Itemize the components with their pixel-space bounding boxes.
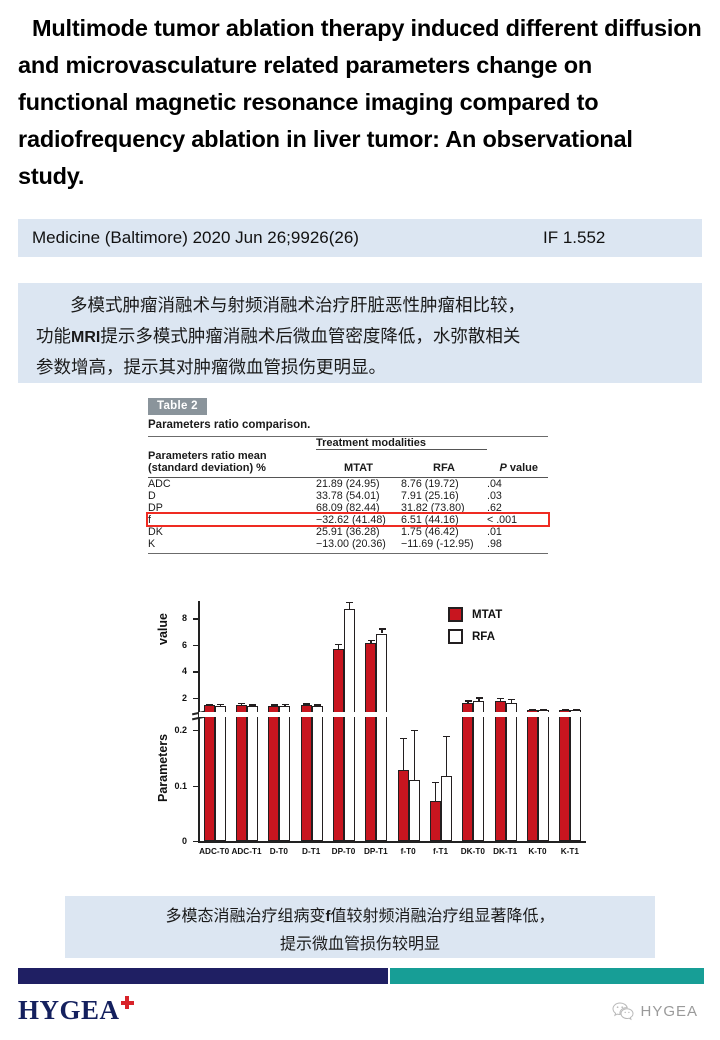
journal-bar: Medicine (Baltimore) 2020 Jun 26;9926(26…	[18, 219, 702, 257]
y-axis-tick: 0	[193, 841, 198, 842]
chart-bar	[279, 706, 290, 841]
table-cell-rfa: −11.69 (-12.95)	[401, 538, 487, 550]
error-bar-cap	[497, 698, 504, 699]
x-axis-tick-label: f-T0	[401, 847, 416, 856]
summary-line-3: 参数增高，提示其对肿瘤微血管损伤更明显。	[36, 353, 680, 384]
col-header-mtat: MTAT	[316, 450, 401, 474]
chart-bar	[462, 703, 473, 841]
table-row: K−13.00 (20.36)−11.69 (-12.95).98	[148, 538, 548, 550]
error-bar-cap	[400, 738, 407, 739]
table-row: ADC21.89 (24.95)8.76 (19.72).04	[148, 477, 548, 490]
legend-item-mtat: MTAT	[448, 607, 502, 622]
y-axis-title-value: value	[156, 613, 170, 645]
legend-label-mtat: MTAT	[472, 609, 502, 621]
page-title: Multimode tumor ablation therapy induced…	[18, 10, 704, 195]
table-cell-mtat: 25.91 (36.28)	[316, 526, 401, 538]
x-axis-tick-label: K-T1	[561, 847, 579, 856]
figure-caption: 多模态消融治疗组病变f值较射频消融治疗组显著降低， 提示微血管损伤较明显	[65, 896, 655, 958]
table-cell-pvalue: .03	[487, 490, 548, 502]
caption-line-2: 提示微血管损伤较明显	[65, 930, 655, 957]
table-cell-mtat: −32.62 (41.48)	[316, 514, 401, 526]
y-axis-tick-label: 4	[182, 666, 187, 676]
error-bar-cap	[379, 628, 386, 629]
x-axis-tick-label: f-T1	[433, 847, 448, 856]
results-table: Table 2 Parameters ratio comparison. Tre…	[148, 396, 548, 554]
table-cell-rfa: 6.51 (44.16)	[401, 514, 487, 526]
table-cell-mtat: 33.78 (54.01)	[316, 490, 401, 502]
table-grid: Treatment modalities Parameters ratio me…	[148, 437, 548, 550]
error-bar-cap	[573, 709, 580, 710]
table-cell-rfa: 1.75 (46.42)	[401, 526, 487, 538]
error-bar-cap	[540, 709, 547, 710]
legend-label-rfa: RFA	[472, 631, 495, 643]
col-header-pvalue: P value	[487, 450, 548, 474]
error-bar	[446, 736, 447, 776]
plot-area: 00.10.22468ADC-T0ADC-T1D-T0D-T1DP-T0DP-T…	[198, 601, 586, 841]
error-bar	[403, 738, 404, 770]
chart-bar	[398, 770, 409, 841]
pvalue-italic-p: P	[499, 462, 506, 474]
y-axis-title-parameters: Parameters	[156, 734, 170, 802]
y-axis-tick-label: 0	[182, 836, 187, 846]
table-cell-pvalue: < .001	[487, 514, 548, 526]
pvalue-word: value	[507, 462, 538, 474]
summary-block: 多模式肿瘤消融术与射频消融术治疗肝脏恶性肿瘤相比较， 功能MRI提示多模式肿瘤消…	[18, 283, 702, 383]
table-cell-parameter: DK	[148, 526, 316, 538]
table-cell-parameter: DP	[148, 502, 316, 514]
error-bar-cap	[411, 730, 418, 731]
chart-bar	[495, 701, 506, 841]
col-header-parameters-l1: Parameters ratio mean	[148, 450, 316, 462]
x-axis-tick-label: DK-T0	[461, 847, 485, 856]
y-axis-tick: 6	[193, 645, 198, 646]
table-cell-parameter: ADC	[148, 477, 316, 490]
chart-bar	[301, 705, 312, 841]
axis-break-band-overlay	[199, 712, 586, 717]
error-bar-cap	[314, 704, 321, 705]
chart-bar	[268, 706, 279, 841]
chart-bar	[527, 710, 538, 841]
y-axis-tick: 2	[193, 698, 198, 699]
chart-bar	[236, 705, 247, 841]
chart-bar	[333, 649, 344, 841]
y-axis-tick: 0.1	[193, 786, 198, 787]
table-column-header-row: Parameters ratio mean (standard deviatio…	[148, 450, 548, 474]
chart-bar	[247, 706, 258, 841]
chart-bar	[376, 634, 387, 842]
chart-bar	[441, 776, 452, 841]
error-bar-cap	[271, 704, 278, 705]
chart-bar	[473, 701, 484, 841]
bar-chart: value Parameters 00.10.22468ADC-T0ADC-T1…	[160, 597, 590, 867]
chart-bar	[344, 609, 355, 841]
error-bar-cap	[249, 704, 256, 705]
error-bar-cap	[529, 709, 536, 710]
summary-line-2a: 功能	[36, 327, 71, 347]
error-bar-cap	[368, 640, 375, 641]
table-cell-mtat: 21.89 (24.95)	[316, 477, 401, 490]
y-axis-tick-label: 2	[182, 693, 187, 703]
footer-teal-bar	[390, 968, 704, 984]
figure-area: Table 2 Parameters ratio comparison. Tre…	[0, 392, 720, 882]
chart-bar	[430, 801, 441, 841]
summary-mri-term: MRI	[71, 329, 100, 346]
error-bar-cap	[303, 703, 310, 704]
legend-swatch-rfa-icon	[448, 629, 463, 644]
table-caption: Parameters ratio comparison.	[148, 419, 548, 431]
spacer-cell	[148, 437, 316, 450]
chart-bar	[506, 703, 517, 841]
table-group-header-row: Treatment modalities	[148, 437, 548, 450]
error-bar-cap	[206, 704, 213, 705]
wechat-label: HYGEA	[640, 1003, 698, 1020]
x-axis-tick-label: ADC-T1	[231, 847, 261, 856]
chart-bar	[538, 710, 549, 841]
y-axis-tick-label: 6	[182, 640, 187, 650]
table-cell-parameter: K	[148, 538, 316, 550]
table-cell-pvalue: .04	[487, 477, 548, 490]
y-axis-tick-label: 0.2	[174, 725, 187, 735]
hygea-logo-text: HYGEA	[18, 995, 120, 1025]
error-bar-cap	[443, 736, 450, 737]
impact-factor: IF 1.552	[543, 228, 605, 248]
treatment-modalities-header: Treatment modalities	[316, 437, 487, 450]
chart-bar	[365, 643, 376, 841]
chart-legend: MTAT RFA	[448, 607, 502, 651]
table-body: ADC21.89 (24.95)8.76 (19.72).04D33.78 (5…	[148, 477, 548, 550]
x-axis-tick-label: DK-T1	[493, 847, 517, 856]
caption-line-1: 多模态消融治疗组病变f值较射频消融治疗组显著降低，	[65, 902, 655, 930]
chart-bar	[215, 706, 226, 841]
legend-swatch-mtat-icon	[448, 607, 463, 622]
y-axis-tick: 0.2	[193, 730, 198, 731]
bars-container	[198, 601, 586, 841]
y-axis-tick-label: 0.1	[174, 781, 187, 791]
x-axis-tick-label: D-T0	[270, 847, 288, 856]
wechat-icon	[612, 1002, 634, 1021]
hygea-logo: HYGEA	[18, 995, 134, 1026]
x-axis-line	[198, 841, 586, 843]
table-cell-rfa: 31.82 (73.80)	[401, 502, 487, 514]
error-bar	[435, 782, 436, 801]
table-cell-mtat: −13.00 (20.36)	[316, 538, 401, 550]
chart-bar	[409, 780, 420, 841]
summary-line-1: 多模式肿瘤消融术与射频消融术治疗肝脏恶性肿瘤相比较，	[36, 291, 680, 322]
error-bar-cap	[217, 704, 224, 705]
table-row: f−32.62 (41.48)6.51 (44.16)< .001	[148, 514, 548, 526]
error-bar-cap	[346, 602, 353, 603]
y-axis-tick: 8	[193, 618, 198, 619]
wechat-watermark: HYGEA	[612, 1002, 698, 1021]
caption-line-1a: 多模态消融治疗组病变	[165, 906, 325, 925]
x-axis-tick-label: D-T1	[302, 847, 320, 856]
error-bar-cap	[238, 703, 245, 704]
chart-bar	[312, 706, 323, 841]
table-cell-pvalue: .62	[487, 502, 548, 514]
y-axis-tick: 4	[193, 671, 198, 672]
x-axis-tick-label: K-T0	[528, 847, 546, 856]
error-bar-cap	[335, 644, 342, 645]
table-badge: Table 2	[148, 398, 207, 415]
table-cell-parameter: f	[148, 514, 316, 526]
table-row: DK25.91 (36.28)1.75 (46.42).01	[148, 526, 548, 538]
summary-line-2c: 提示多模式肿瘤消融术后微血管密度降低，水弥散相关	[100, 327, 520, 347]
error-bar-cap	[562, 709, 569, 710]
col-header-parameters: Parameters ratio mean (standard deviatio…	[148, 450, 316, 474]
error-bar-cap	[432, 782, 439, 783]
col-header-rfa: RFA	[401, 450, 487, 474]
error-bar	[414, 730, 415, 780]
legend-item-rfa: RFA	[448, 629, 502, 644]
table-row: D33.78 (54.01)7.91 (25.16).03	[148, 490, 548, 502]
summary-line-2: 功能MRI提示多模式肿瘤消融术后微血管密度降低，水弥散相关	[36, 322, 680, 353]
x-axis-tick-label: DP-T0	[332, 847, 356, 856]
table-cell-pvalue: .98	[487, 538, 548, 550]
table-cell-rfa: 8.76 (19.72)	[401, 477, 487, 490]
footer-navy-bar	[18, 968, 388, 984]
error-bar-cap	[476, 697, 483, 698]
x-axis-tick-label: ADC-T0	[199, 847, 229, 856]
chart-bar	[559, 710, 570, 841]
table-cell-mtat: 68.09 (82.44)	[316, 502, 401, 514]
error-bar-cap	[282, 704, 289, 705]
error-bar-cap	[508, 699, 515, 700]
table-cell-pvalue: .01	[487, 526, 548, 538]
chart-bar	[204, 705, 215, 841]
x-axis-tick-label: DP-T1	[364, 847, 388, 856]
table-bottom-rule	[148, 553, 548, 554]
chart-bar	[570, 710, 581, 841]
table-cell-rfa: 7.91 (25.16)	[401, 490, 487, 502]
medical-cross-icon	[121, 996, 134, 1009]
table-row: DP68.09 (82.44)31.82 (73.80).62	[148, 502, 548, 514]
y-axis-tick-label: 8	[182, 613, 187, 623]
col-header-parameters-l2: (standard deviation) %	[148, 462, 316, 474]
spacer-cell-2	[487, 437, 548, 450]
caption-line-1c: 值较射频消融治疗组显著降低，	[331, 906, 555, 925]
error-bar-cap	[465, 700, 472, 701]
journal-citation: Medicine (Baltimore) 2020 Jun 26;9926(26…	[32, 228, 359, 248]
table-cell-parameter: D	[148, 490, 316, 502]
